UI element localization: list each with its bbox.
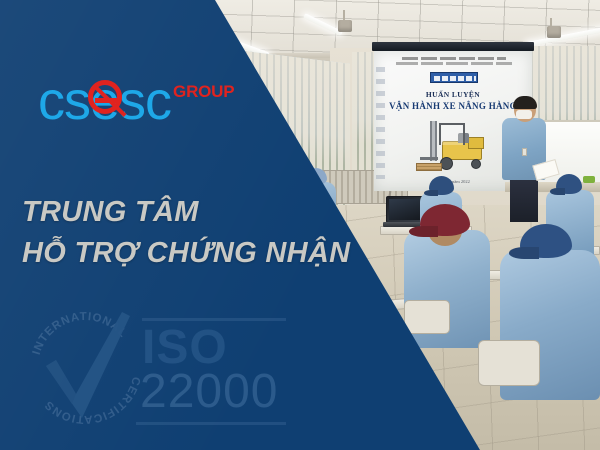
ceiling-speaker-icon [338,20,352,32]
pallet-icon [416,163,442,171]
slide-thumbnail-strip [376,67,385,179]
checkmark-icon [26,308,144,426]
forklift-mast [430,121,437,161]
screen-roller-bar [372,42,534,51]
slide-company-subline [396,62,512,65]
face-mask-icon [516,110,532,119]
headline-line-2: HỖ TRỢ CHỨNG NHẬN [22,233,352,274]
counter-object [583,176,595,183]
cap-icon [429,176,454,195]
laptop [386,196,424,223]
iso-standard-block: ISO 22000 [136,306,286,436]
forklift-forks [420,157,438,160]
chair [404,300,450,334]
headline-line-1: TRUNG TÂM [22,196,199,228]
headline: TRUNG TÂM HỖ TRỢ CHỨNG NHẬN [22,192,352,274]
forklift-icon [416,119,498,175]
slide-company-line [402,57,506,60]
logo-wordmark: csesc [38,74,171,128]
instructor-hair [513,96,537,109]
instructor-trousers [510,178,538,222]
slide-title-line2: VẬN HÀNH XE NÂNG HÀNG [374,101,532,111]
divider-line [136,422,286,425]
promotional-banner: HUẤN LUYỆN VẬN HÀNH XE NÂNG HÀNG Tháng 3… [0,0,600,450]
chair [478,340,540,386]
cap-icon [556,174,582,194]
iso-number: 22000 [140,368,278,416]
certification-badge-icon: INTERNATIONAL CERTIFICATIONS [26,308,144,426]
forklift-cab [439,123,465,145]
ceiling-speaker-icon [547,26,561,38]
forklift-counterweight [468,137,484,149]
csesc-group-logo[interactable]: csesc GROUP [38,74,234,122]
logo-group-label: GROUP [173,82,234,102]
logo-circle-e-icon [88,80,122,114]
slide-logo-icon [430,72,478,83]
slide-title-line1: HUẤN LUYỆN [374,90,532,99]
id-badge [522,148,527,156]
forklift-wheel [471,159,481,169]
iso-watermark: INTERNATIONAL CERTIFICATIONS ISO 22000 [18,300,286,450]
